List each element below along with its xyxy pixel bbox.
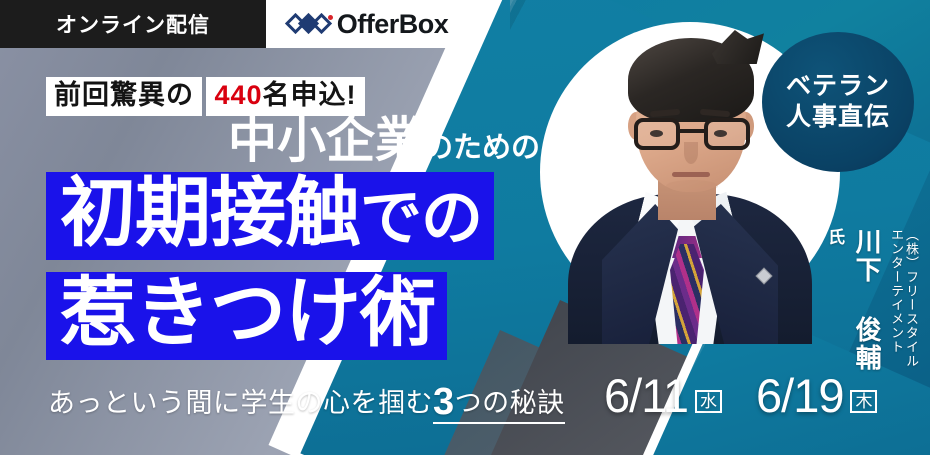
title-line-1-main: 初期接触 xyxy=(60,171,360,256)
tagline-suffix: つの秘訣 xyxy=(455,388,565,418)
tagline-number: 3 xyxy=(433,381,455,423)
portrait-glasses-bridge xyxy=(680,129,704,133)
title-line-2: 惹きつけ術 xyxy=(46,272,447,360)
tagline: あっという間に学生の心を掴む3つの秘訣 xyxy=(48,381,565,424)
tagline-underlined: 3つの秘訣 xyxy=(433,388,565,424)
online-stream-text: オンライン配信 xyxy=(56,9,210,39)
webinar-banner: オンライン配信 OfferBox 前回驚異の 440名申込! 中小企業のための … xyxy=(0,0,930,455)
portrait-nose xyxy=(684,142,698,164)
title-line-1: 初期接触での xyxy=(46,172,494,260)
speaker-company: （株）フリースタイル エンターテイメント xyxy=(888,228,918,378)
portrait-mouth xyxy=(672,172,710,177)
speaker-name: 川下 俊輔氏 xyxy=(818,228,886,378)
online-stream-label: オンライン配信 xyxy=(0,0,266,48)
portrait-hair-wisp xyxy=(712,30,764,64)
date-item: 6/19 木 xyxy=(756,372,877,419)
session-dates: 6/11 水 6/19 木 xyxy=(604,372,877,419)
headline-emphasis: 中小企業 xyxy=(228,114,424,168)
portrait-chin xyxy=(666,180,718,192)
date-item: 6/11 水 xyxy=(604,372,722,419)
header-bar: オンライン配信 OfferBox xyxy=(0,0,470,48)
badge-line-1: ベテラン xyxy=(786,71,890,102)
title-line-1-tail: での xyxy=(360,184,482,253)
date-value: 6/19 xyxy=(756,372,843,419)
speaker-name-text: 川下 俊輔 xyxy=(852,228,882,372)
title-line-2-main: 惹きつけ術 xyxy=(60,271,435,356)
date-value: 6/11 xyxy=(604,372,688,419)
date-day-of-week: 木 xyxy=(850,390,877,413)
kicker-line-1: 前回驚異の xyxy=(46,77,202,116)
date-day-of-week: 水 xyxy=(695,390,722,413)
speaker-name-suffix: 氏 xyxy=(825,228,844,247)
logo-red-dot xyxy=(328,15,333,20)
offerbox-diamond-logo-icon xyxy=(288,12,332,36)
tagline-prefix: あっという間に学生の心を掴む xyxy=(48,388,433,418)
headline-suffix: のための xyxy=(424,132,540,164)
headline-target-audience: 中小企業のための xyxy=(228,101,540,172)
badge-line-2: 人事直伝 xyxy=(786,102,890,133)
offerbox-logo: OfferBox xyxy=(266,0,470,48)
portrait-lens-right xyxy=(704,118,750,150)
status-badge: ベテラン 人事直伝 xyxy=(762,32,914,172)
portrait-lens-left xyxy=(634,118,680,150)
offerbox-logo-text: OfferBox xyxy=(337,9,449,40)
speaker-credit: 川下 俊輔氏 （株）フリースタイル エンターテイメント xyxy=(818,228,918,378)
